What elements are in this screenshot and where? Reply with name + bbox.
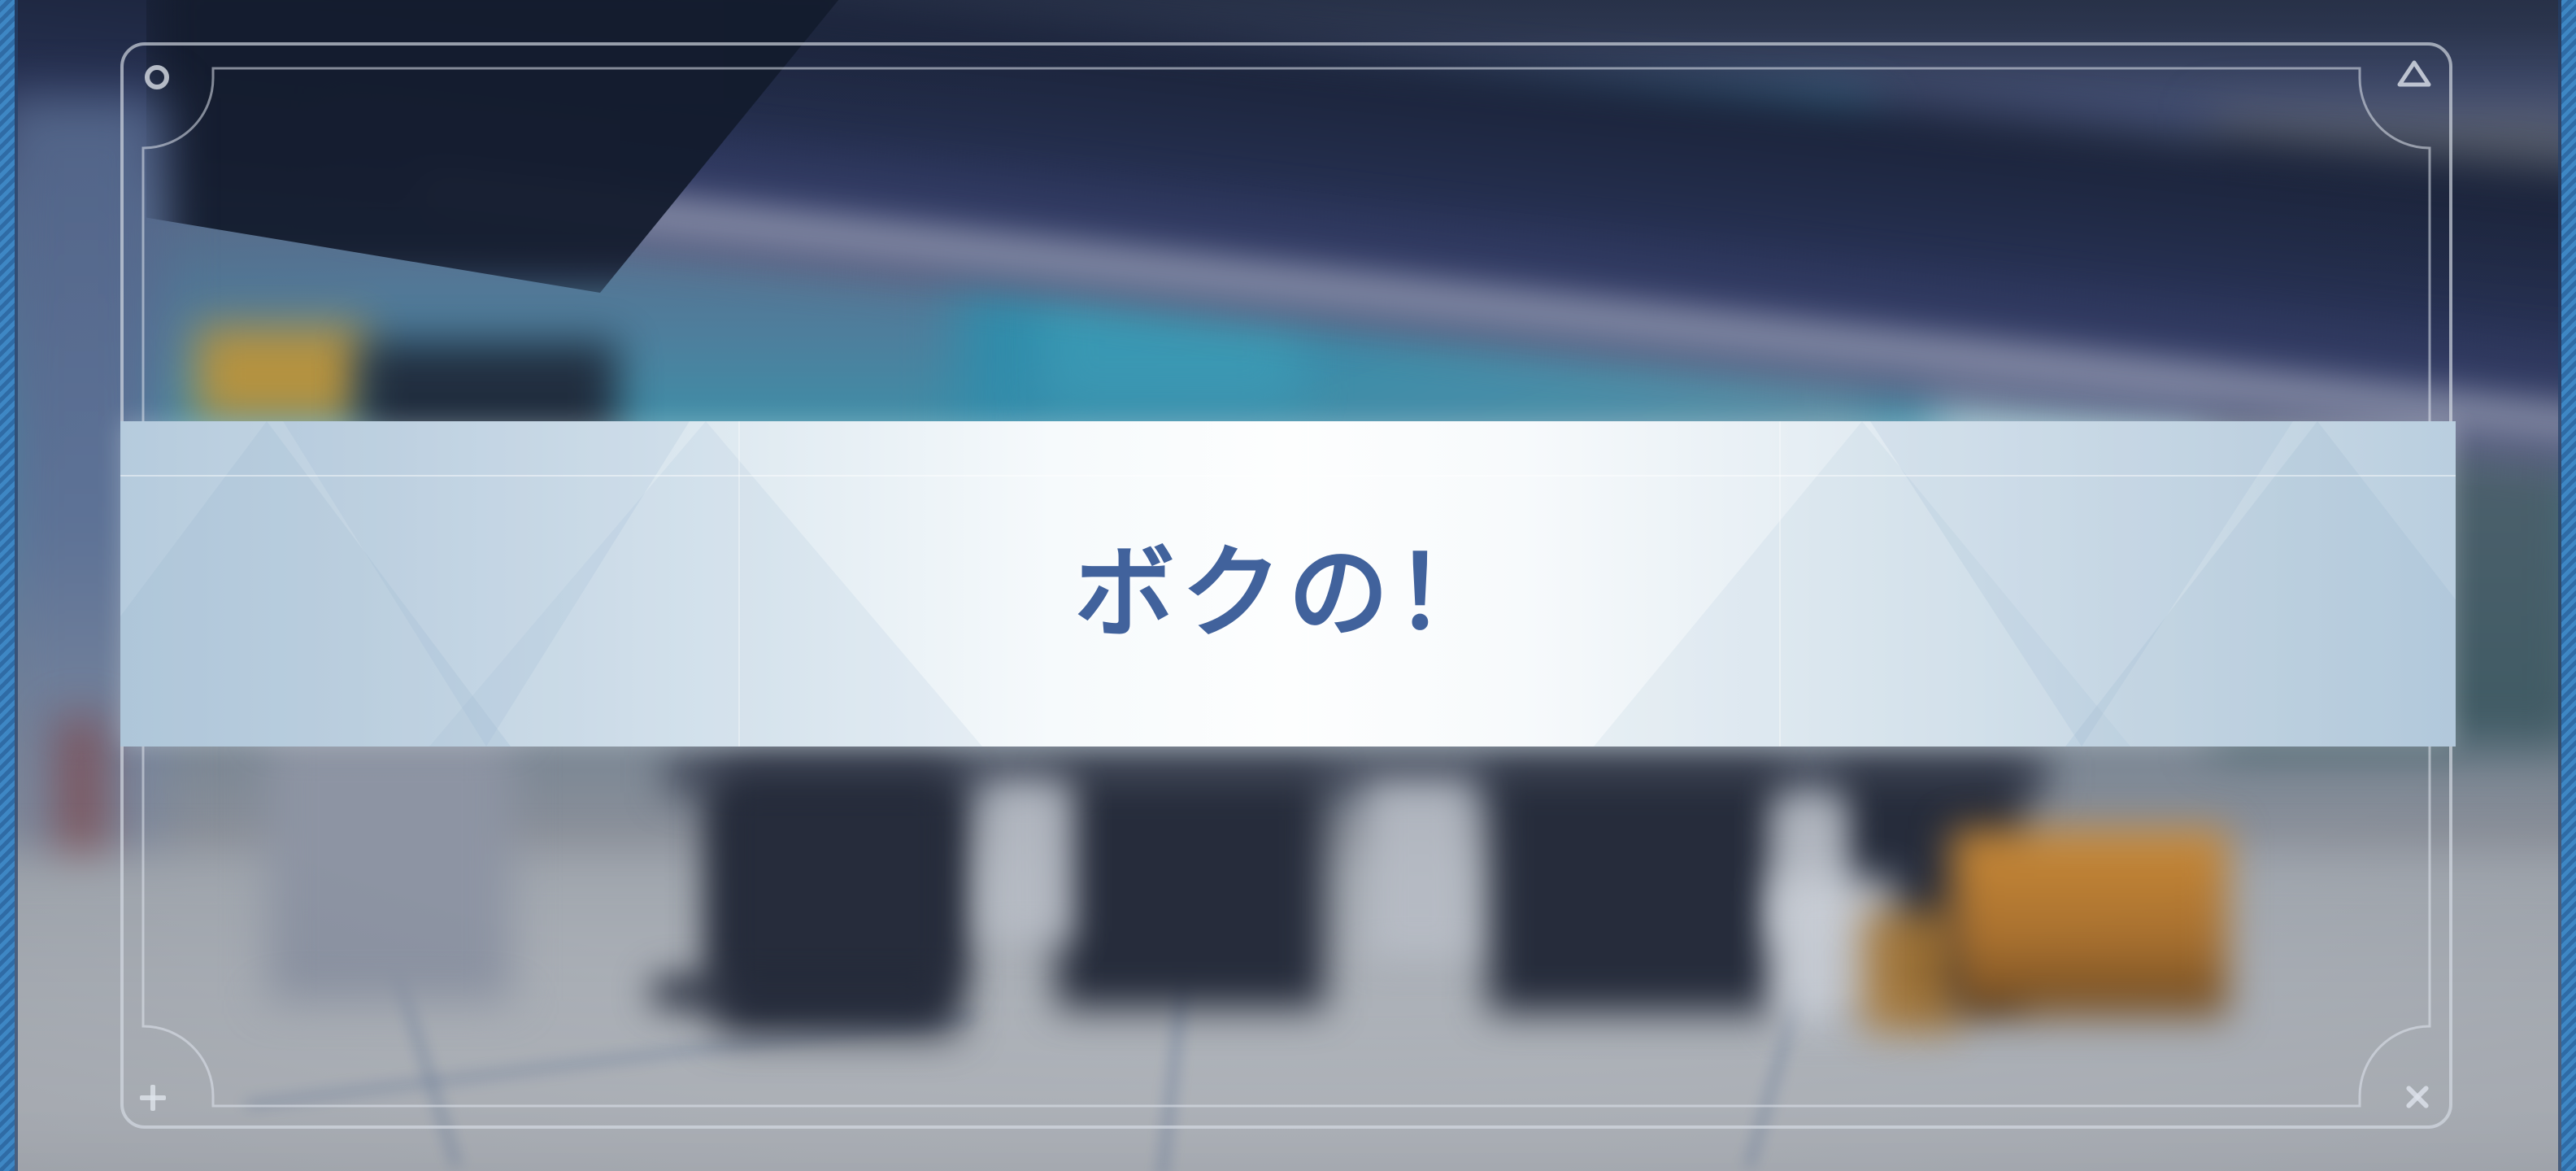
plus-icon[interactable] bbox=[135, 1080, 171, 1116]
background-desk-highlight bbox=[1366, 781, 1472, 960]
background-desk bbox=[1488, 768, 1781, 1012]
title-card-screen: ボクの！ bbox=[0, 0, 2576, 1171]
left-stripe-band bbox=[0, 0, 15, 1171]
right-stripe-edge bbox=[2558, 0, 2561, 1171]
title-banner: ボクの！ bbox=[120, 421, 2456, 747]
triangle-icon[interactable] bbox=[2395, 57, 2433, 89]
circle-ring-icon[interactable] bbox=[141, 62, 172, 93]
close-icon[interactable] bbox=[2399, 1078, 2436, 1116]
left-stripe-edge bbox=[15, 0, 18, 1171]
background-orange-box bbox=[1952, 829, 2228, 1016]
background-yellow-object bbox=[195, 325, 366, 423]
background-orange-box-small bbox=[1862, 911, 1960, 1033]
background-desk bbox=[1057, 773, 1325, 1008]
background-desk-highlight bbox=[984, 781, 1073, 943]
title-text: ボクの！ bbox=[120, 421, 2456, 747]
background-desk bbox=[716, 777, 959, 988]
background-cabinet bbox=[268, 732, 512, 1000]
right-stripe-band bbox=[2561, 0, 2576, 1171]
